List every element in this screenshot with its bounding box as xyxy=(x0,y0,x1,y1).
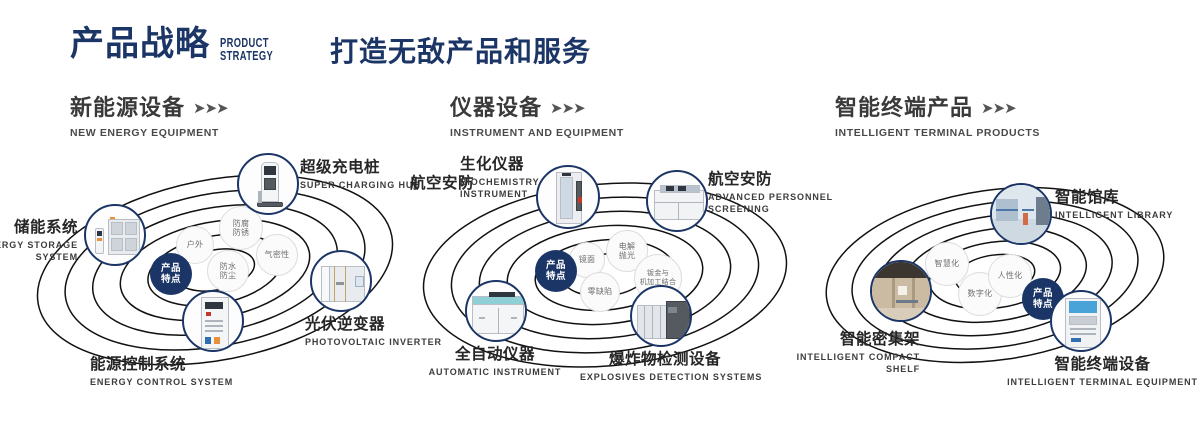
section-title-en: INSTRUMENT AND EQUIPMENT xyxy=(450,127,624,139)
caption-automatic-instrument: 全自动仪器 AUTOMATIC INSTRUMENT xyxy=(415,345,575,378)
node-super-charging-hub[interactable] xyxy=(237,153,299,215)
section-title-cn: 新能源设备➤➤➤ xyxy=(70,95,228,122)
caption-intelligent-compact-shelf: 智能密集架 INTELLIGENT COMPACT SHELF xyxy=(720,330,920,375)
node-automatic-instrument[interactable] xyxy=(465,280,527,342)
chevron-right-icon: ➤➤➤ xyxy=(550,100,585,117)
kiosk-terminal-art xyxy=(1052,292,1110,350)
cabinet-pair-art xyxy=(86,206,144,264)
detection-unit-art xyxy=(632,287,690,345)
caption-intelligent-library: 智能馆库 INTELLIGENT LIBRARY xyxy=(1055,188,1200,221)
node-energy-control-system[interactable] xyxy=(182,290,244,352)
poster-title-cn: 产品战略 xyxy=(70,24,210,64)
section-title-cn: 仪器设备➤➤➤ xyxy=(450,95,624,122)
section-title-en: INTELLIGENT TERMINAL PRODUCTS xyxy=(835,127,1040,139)
caption-energy-control-system: 能源控制系统 ENERGY CONTROL SYSTEM xyxy=(90,355,280,388)
node-intelligent-compact-shelf[interactable] xyxy=(870,260,932,322)
chevron-right-icon: ➤➤➤ xyxy=(193,100,228,117)
node-explosives-detection[interactable] xyxy=(630,285,692,347)
product-features-badge: 产品 特点 xyxy=(150,253,192,295)
section-title-cn: 智能终端产品➤➤➤ xyxy=(835,95,1040,122)
poster-slogan: 打造无敌产品和服务 xyxy=(330,30,591,70)
poster-title-en: PRODUCT STRATEGY xyxy=(220,36,273,62)
section-title-intelligent-terminal: 智能终端产品➤➤➤ INTELLIGENT TERMINAL PRODUCTS xyxy=(835,95,1040,139)
caption-energy-storage: 储能系统 ENERGY STORAGE SYSTEM xyxy=(0,218,78,263)
node-photovoltaic-inverter[interactable] xyxy=(310,250,372,312)
poster-canvas: 产品战略 PRODUCT STRATEGY 打造无敌产品和服务 新能源设备➤➤➤… xyxy=(0,0,1200,422)
feature-bubble: 防水防尘 xyxy=(207,250,249,292)
section-title-new-energy: 新能源设备➤➤➤ NEW ENERGY EQUIPMENT xyxy=(70,95,228,139)
library-room-art xyxy=(992,185,1050,243)
feature-bubble: 零缺陷 xyxy=(580,272,620,312)
poster-title-en-line2: STRATEGY xyxy=(220,49,273,62)
auto-analyzer-art xyxy=(467,282,525,340)
section-title-instrument: 仪器设备➤➤➤ INSTRUMENT AND EQUIPMENT xyxy=(450,95,624,139)
compact-shelf-art xyxy=(872,262,930,320)
section-title-en: NEW ENERGY EQUIPMENT xyxy=(70,127,228,139)
control-cabinet-art xyxy=(184,292,242,350)
node-advanced-personnel-screening[interactable] xyxy=(646,170,708,232)
node-intelligent-terminal-equipment[interactable] xyxy=(1050,290,1112,352)
charger-post-art xyxy=(239,155,297,213)
diagram-intelligent-terminal: 智慧化 数字化 人性化 产品 特点 智能馆库 IN xyxy=(800,150,1200,410)
poster-header: 产品战略 PRODUCT STRATEGY xyxy=(70,24,294,64)
node-energy-storage[interactable] xyxy=(84,204,146,266)
node-intelligent-library[interactable] xyxy=(990,183,1052,245)
screening-machine-art xyxy=(648,172,706,230)
product-features-badge: 产品 特点 xyxy=(535,250,577,292)
diagram-new-energy: 户外 防腐防锈 气密性 防水防尘 产品 特点 xyxy=(0,150,400,410)
feature-bubble: 气密性 xyxy=(256,234,298,276)
caption-biochemistry-instrument: 生化仪器 BIOCHEMISTRY INSTRUMENT xyxy=(460,155,610,200)
caption-intelligent-terminal-equipment: 智能终端设备 INTELLIGENT TERMINAL EQUIPMENT xyxy=(1005,355,1200,388)
chevron-right-icon: ➤➤➤ xyxy=(981,100,1016,117)
inverter-rack-art xyxy=(312,252,370,310)
